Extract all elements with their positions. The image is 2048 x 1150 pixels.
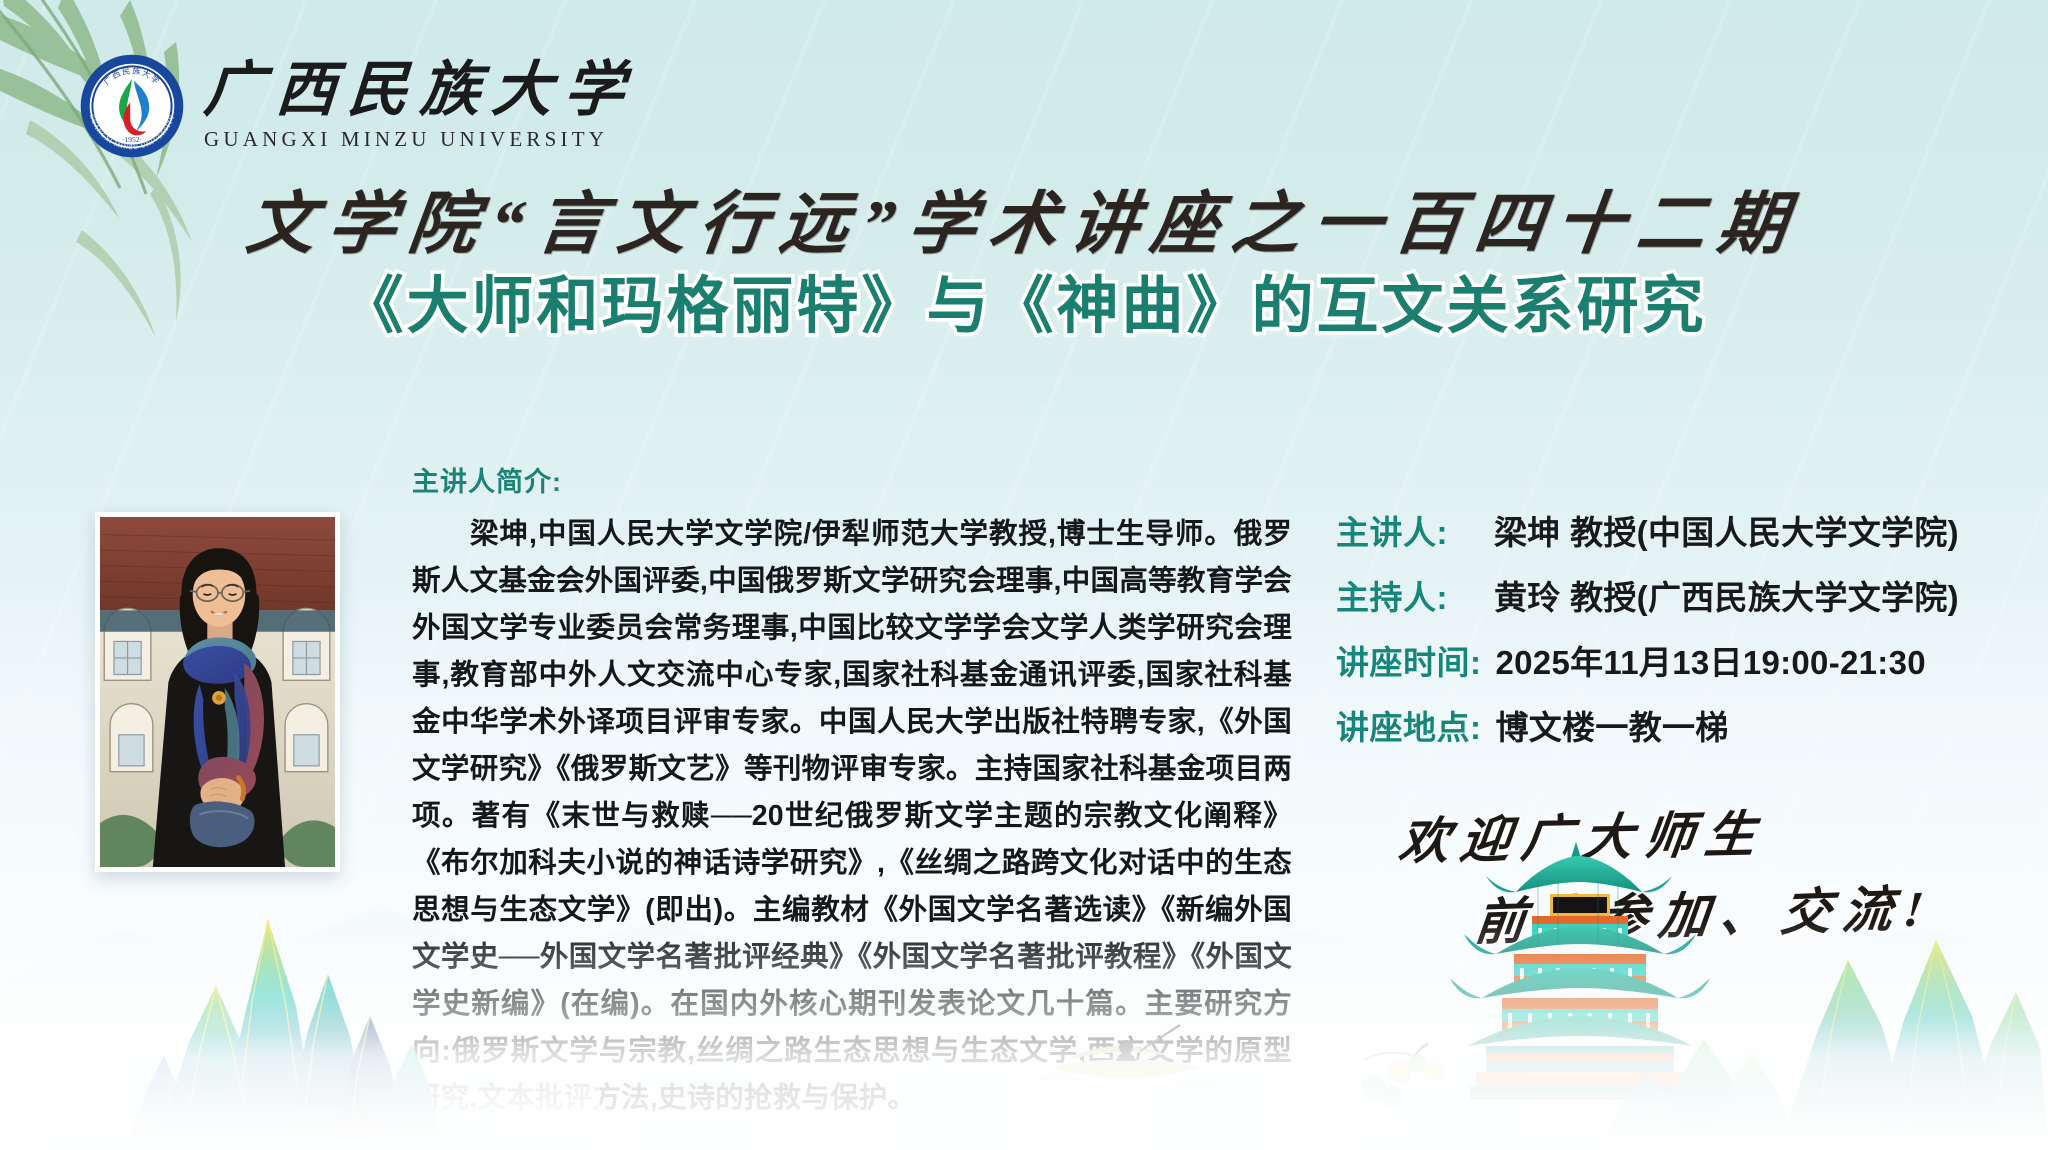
university-crest-icon: 广西民族大学 GUANGXI MINZU UNIVERSITY ·1952· <box>78 52 186 160</box>
info-label-speaker: 主讲人: <box>1336 506 1448 554</box>
info-label-location: 讲座地点: <box>1336 701 1482 749</box>
info-value-host: 黄玲 教授(广西民族大学文学院) <box>1494 571 1959 619</box>
welcome-line-2: 前来参加、交流! <box>1472 881 1964 949</box>
university-name-en: GUANGXI MINZU UNIVERSITY <box>204 127 636 152</box>
info-value-speaker: 梁坤 教授(中国人民大学文学院) <box>1494 506 1959 554</box>
university-brand: 广西民族大学 GUANGXI MINZU UNIVERSITY ·1952· 广… <box>78 52 636 160</box>
speaker-bio-heading: 主讲人简介: <box>412 460 1292 499</box>
poster-root: 广西民族大学 GUANGXI MINZU UNIVERSITY ·1952· 广… <box>0 0 2048 1150</box>
welcome-line-1: 欢迎广大师生 <box>1396 804 1964 868</box>
speaker-bio-body: 梁坤,中国人民大学文学院/伊犁师范大学教授,博士生导师。俄罗斯人文基金会外国评委… <box>412 511 1292 1122</box>
info-row-location: 讲座地点: 博文楼一教一梯 <box>1336 701 1996 749</box>
lecture-series-title: 文学院“言文行远”学术讲座之一百四十二期 <box>0 168 2048 267</box>
speaker-portrait <box>95 512 340 872</box>
lecture-info-block: 主讲人: 梁坤 教授(中国人民大学文学院) 主持人: 黄玲 教授(广西民族大学文… <box>1336 506 1996 766</box>
info-value-time: 2025年11月13日19:00-21:30 <box>1496 636 1926 684</box>
info-label-time: 讲座时间: <box>1336 636 1482 684</box>
info-row-speaker: 主讲人: 梁坤 教授(中国人民大学文学院) <box>1336 506 1996 554</box>
speaker-bio-block: 主讲人简介: 梁坤,中国人民大学文学院/伊犁师范大学教授,博士生导师。俄罗斯人文… <box>412 460 1292 1122</box>
welcome-message: 欢迎广大师生 前来参加、交流! <box>1400 810 1960 941</box>
info-value-location: 博文楼一教一梯 <box>1496 701 1729 749</box>
speaker-photo-illustration <box>100 517 335 867</box>
svg-text:·1952·: ·1952· <box>122 135 142 144</box>
lecture-topic-title: 《大师和玛格丽特》与《神曲》的互文关系研究 <box>0 255 2048 345</box>
info-label-host: 主持人: <box>1336 571 1448 619</box>
info-row-host: 主持人: 黄玲 教授(广西民族大学文学院) <box>1336 571 1996 619</box>
university-name-cn: 广西民族大学 <box>202 60 638 120</box>
info-row-time: 讲座时间: 2025年11月13日19:00-21:30 <box>1336 636 1996 684</box>
